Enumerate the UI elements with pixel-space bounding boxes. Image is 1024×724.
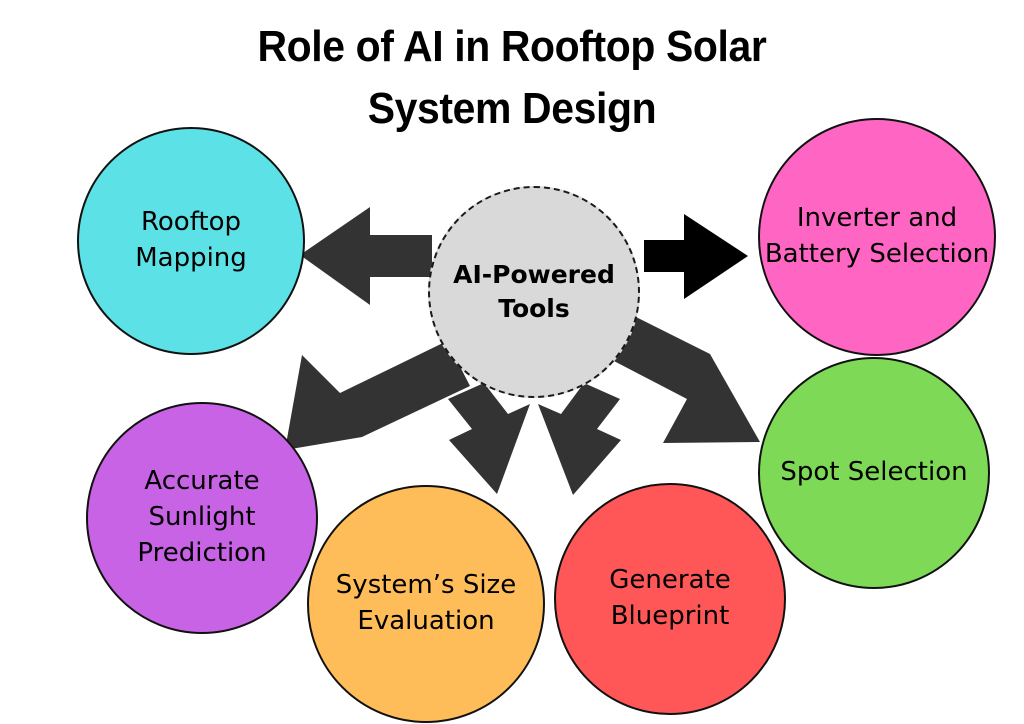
arrow-down-left-small	[448, 383, 530, 494]
node-label: AI-Powered Tools	[430, 258, 638, 327]
node-label: Spot Selection	[760, 455, 988, 491]
node-spot-selection[interactable]: Spot Selection	[758, 357, 990, 589]
node-label: System’s Size Evaluation	[309, 568, 543, 640]
arrow-down-left	[285, 341, 470, 450]
node-rooftop-mapping[interactable]: Rooftop Mapping	[77, 127, 305, 355]
arrow-left	[300, 207, 432, 305]
node-label: Generate Blueprint	[556, 563, 784, 635]
arrow-right	[644, 214, 748, 299]
node-ai-powered-tools[interactable]: AI-Powered Tools	[428, 186, 640, 398]
node-label: Accurate Sunlight Prediction	[88, 464, 316, 572]
node-inverter-and-battery-selection[interactable]: Inverter and Battery Selection	[758, 118, 996, 356]
node-accurate-sunlight-prediction[interactable]: Accurate Sunlight Prediction	[86, 402, 318, 634]
arrow-down-right-small	[538, 383, 621, 495]
node-generate-blueprint[interactable]: Generate Blueprint	[554, 483, 786, 715]
node-systems-size-evaluation[interactable]: System’s Size Evaluation	[307, 485, 545, 723]
diagram-canvas: Role of AI in Rooftop Solar System Desig…	[0, 0, 1024, 724]
node-label: Inverter and Battery Selection	[760, 201, 994, 273]
node-label: Rooftop Mapping	[79, 205, 303, 277]
